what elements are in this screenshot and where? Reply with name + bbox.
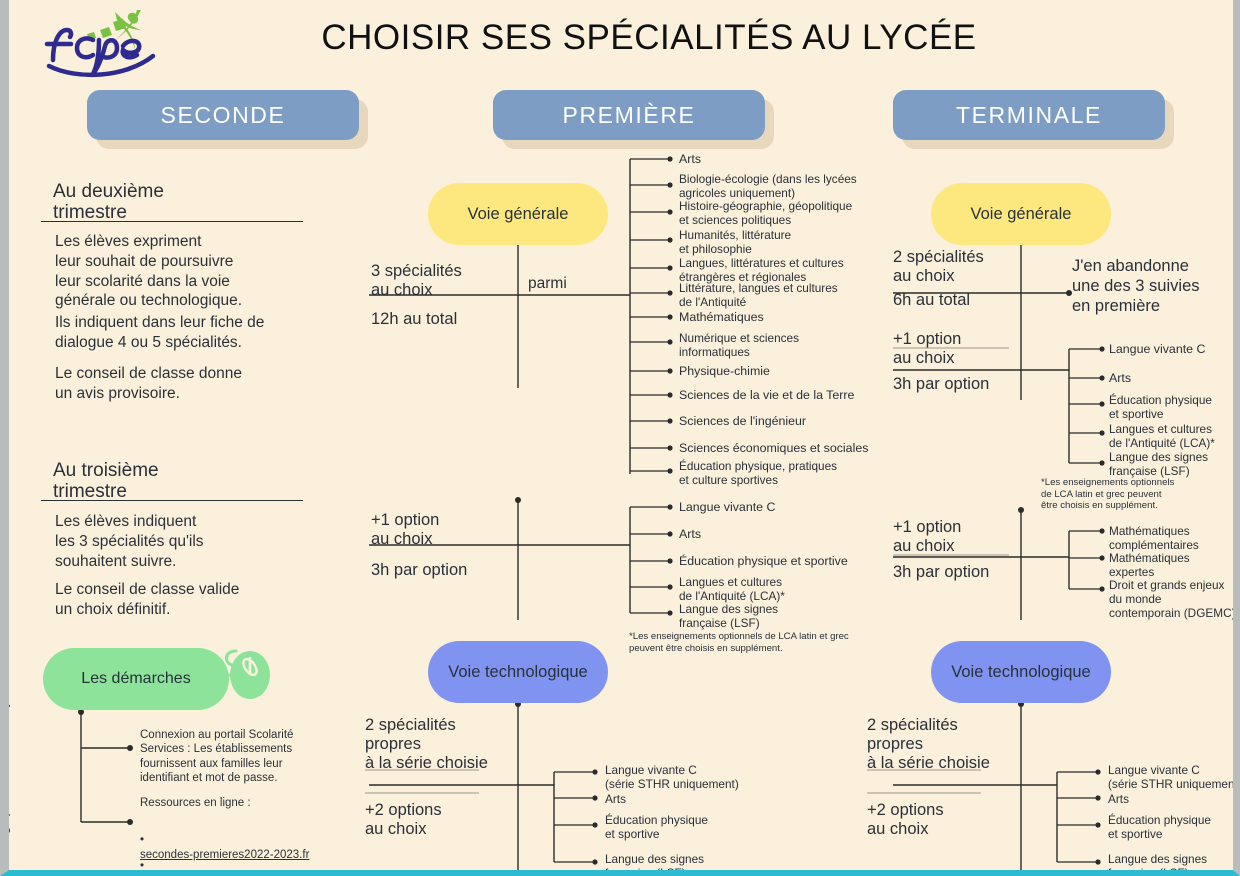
premiere-option-3: Éducation physique et sportive <box>679 554 889 569</box>
premiere-specialite-12: Sciences économiques et sociales <box>679 441 899 456</box>
column-header-terminale[interactable]: TERMINALE <box>893 90 1165 140</box>
terminale-option-5: Langue des signes française (LSF) <box>1109 450 1240 478</box>
premiere-specialite-10: Sciences de la vie et de la Terre <box>679 388 899 403</box>
premiere-specialite-6: Littérature, langues et cultures de l'An… <box>679 281 879 309</box>
terminale-abandon-note: J'en abandonne une des 3 suivies en prem… <box>1072 257 1240 316</box>
demarches-item-1: Connexion au portail Scolarité Services … <box>140 728 340 786</box>
terminale-gen-count: 2 spécialités au choix <box>893 248 984 286</box>
terminale-voie-generale-label: Voie générale <box>971 205 1072 224</box>
premiere-gen-hours: 12h au total <box>371 310 457 329</box>
premiere-gen-option-hours: 3h par option <box>371 561 467 580</box>
premiere-specialite-1: Arts <box>679 152 879 167</box>
divider-trimestre3 <box>41 500 303 501</box>
terminale-option2-2: Mathématiques expertes <box>1109 551 1240 579</box>
premiere-techno-option-3: Éducation physique et sportive <box>605 813 805 841</box>
premiere-footnote: *Les enseignements optionnels de LCA lat… <box>629 631 889 654</box>
premiere-voie-techno-label: Voie technologique <box>448 663 587 682</box>
terminale-gen-option2-hours: 3h par option <box>893 563 989 582</box>
premiere-specialite-8: Numérique et sciences informatiques <box>679 331 879 359</box>
terminale-techno-option-2: Arts <box>1108 792 1240 806</box>
terminale-gen-hours: 6h au total <box>893 291 970 310</box>
terminale-footnote: *Les enseignements optionnels de LCA lat… <box>1041 477 1240 512</box>
terminale-option2-1: Mathématiques complémentaires <box>1109 524 1240 552</box>
premiere-specialite-13: Éducation physique, pratiques et culture… <box>679 459 879 487</box>
terminale-voie-generale-pill[interactable]: Voie générale <box>931 183 1111 245</box>
premiere-gen-connector-label: parmi <box>528 275 567 293</box>
seconde-trimestre3-heading: Au troisième trimestre <box>53 460 333 503</box>
terminale-option-4: Langues et cultures de l'Antiquité (LCA)… <box>1109 422 1240 450</box>
column-header-premiere[interactable]: PREMIÈRE <box>493 90 765 140</box>
mouse-icon <box>214 645 274 701</box>
terminale-gen-option2-count: +1 option au choix <box>893 518 961 556</box>
premiere-specialite-9: Physique-chimie <box>679 364 879 379</box>
seconde-trimestre3-para-2: Le conseil de classe valide un choix déf… <box>55 580 345 620</box>
premiere-techno-option-1: Langue vivante C (série STHR uniquement) <box>605 763 805 791</box>
premiere-option-4: Langues et cultures de l'Antiquité (LCA)… <box>679 575 889 603</box>
credit-label: Infographie de la FCPE - 18 janvier 2023 <box>0 643 11 854</box>
demarches-pill[interactable]: Les démarches <box>43 648 229 710</box>
terminale-gen-option-hours: 3h par option <box>893 375 989 394</box>
premiere-techno-option-4: Langue des signes française (LSF) <box>605 852 805 876</box>
premiere-gen-option-count: +1 option au choix <box>371 511 439 549</box>
premiere-voie-techno-pill[interactable]: Voie technologique <box>428 641 608 703</box>
terminale-techno-option-1: Langue vivante C (série STHR uniquement) <box>1108 763 1240 791</box>
terminale-option2-3: Droit et grands enjeux du monde contempo… <box>1109 578 1240 620</box>
premiere-option-1: Langue vivante C <box>679 500 889 515</box>
terminale-option-3: Éducation physique et sportive <box>1109 393 1240 421</box>
seconde-trimestre3-para-1: Les élèves indiquent les 3 spécialités q… <box>55 512 345 571</box>
premiere-option-5: Langue des signes française (LSF) <box>679 602 889 630</box>
terminale-gen-option-count: +1 option au choix <box>893 330 961 368</box>
demarches-label: Les démarches <box>81 670 190 688</box>
premiere-specialite-7: Mathématiques <box>679 310 879 325</box>
premiere-specialite-2: Biologie-écologie (dans les lycées agric… <box>679 172 879 200</box>
premiere-specialite-11: Sciences de l'ingénieur <box>679 414 879 429</box>
premiere-specialite-4: Humanités, littérature et philosophie <box>679 228 879 256</box>
bullet-2: • <box>140 860 144 872</box>
terminale-techno-count: 2 spécialités propres à la série choisie <box>867 716 990 773</box>
premiere-voie-generale-label: Voie générale <box>468 205 569 224</box>
terminale-voie-techno-label: Voie technologique <box>951 663 1090 682</box>
demarches-link-row-2: • horizons21.fr : pour simuler ses combi… <box>140 845 350 876</box>
page-title: CHOISIR SES SPÉCIALITÉS AU LYCÉE <box>309 18 989 58</box>
premiere-techno-option-2: Arts <box>605 792 805 806</box>
seconde-trimestre2-heading: Au deuxième trimestre <box>53 181 333 224</box>
premiere-option-2: Arts <box>679 527 889 542</box>
premiere-gen-count: 3 spécialités au choix <box>371 262 462 300</box>
fcpe-logo-icon <box>37 8 167 80</box>
premiere-techno-count: 2 spécialités propres à la série choisie <box>365 716 488 773</box>
premiere-voie-generale-pill[interactable]: Voie générale <box>428 183 608 245</box>
premiere-techno-option-count: +2 options au choix <box>365 801 442 839</box>
terminale-techno-option-count: +2 options au choix <box>867 801 944 839</box>
terminale-voie-techno-pill[interactable]: Voie technologique <box>931 641 1111 703</box>
terminale-option-2: Arts <box>1109 371 1240 386</box>
seconde-trimestre2-para-2: Ils indiquent dans leur fiche de dialogu… <box>55 313 345 353</box>
terminale-techno-option-3: Éducation physique et sportive <box>1108 813 1240 841</box>
terminale-option-1: Langue vivante C <box>1109 342 1240 357</box>
infographic-page: CHOISIR SES SPÉCIALITÉS AU LYCÉE Infogra… <box>0 0 1240 876</box>
divider-trimestre2 <box>41 221 303 222</box>
column-header-seconde[interactable]: SECONDE <box>87 90 359 140</box>
demarches-item-2: Ressources en ligne : <box>140 796 340 810</box>
seconde-trimestre2-para-1: Les élèves expriment leur souhait de pou… <box>55 232 345 311</box>
terminale-techno-option-4: Langue des signes française (LSF) <box>1108 852 1240 876</box>
seconde-trimestre2-para-3: Le conseil de classe donne un avis provi… <box>55 364 345 404</box>
premiere-specialite-3: Histoire-géographie, géopolitique et sci… <box>679 199 879 227</box>
